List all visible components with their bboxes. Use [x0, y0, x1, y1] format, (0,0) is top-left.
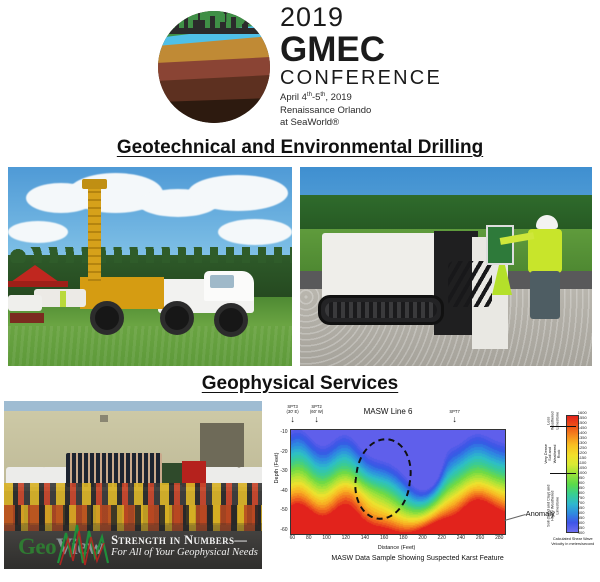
geoview-logo: GeoView	[18, 535, 103, 558]
logo-acronym: GMEC	[280, 32, 442, 67]
colorbar-unit-label: Calculated Shear Wave Velocity in meters…	[544, 537, 600, 546]
logo-year: 2019	[280, 4, 442, 31]
logo-dates: April 4th-5th, 2019	[280, 92, 442, 104]
drilling-section-heading: Geotechnical and Environmental Drilling	[0, 137, 600, 159]
colorbar-zone-very-dense-soil: Very Dense Soil and Weathered Rock	[544, 435, 562, 473]
layered-earth-skyline-icon	[158, 11, 270, 123]
masw-colorbar: Less Weathered Limestone Very Dense Soil…	[544, 401, 596, 573]
masw-chart-title: MASW Line 6	[364, 407, 413, 416]
track-mounted-drill-rig-operator-photo	[300, 167, 592, 366]
geoview-tagline: Strength in Numbers— For All of Your Geo…	[111, 533, 258, 559]
masw-y-axis-label: Depth (Feet)	[274, 443, 280, 493]
masw-x-axis-label: Distance (Feet)	[290, 545, 504, 551]
conference-logo-band: 2019 GMEC CONFERENCE April 4th-5th, 2019…	[0, 0, 600, 133]
geoview-logo-geo: Geo	[18, 534, 56, 559]
geophysical-section-heading: Geophysical Services	[0, 373, 600, 395]
colorbar-zone-soil-highly-weathered: Soil (Sand and Clay) and Highly Weathere…	[546, 483, 559, 529]
geoview-banner: GeoView Strength in Numbers— For All of …	[4, 523, 262, 569]
logo-conference-word: CONFERENCE	[280, 68, 442, 88]
conference-logo: 2019 GMEC CONFERENCE April 4th-5th, 2019…	[158, 4, 442, 129]
masw-velocity-heatmap	[290, 429, 506, 535]
seismic-waveform-icon	[56, 523, 110, 567]
anomaly-leader-line	[504, 514, 525, 521]
geoview-tagline-secondary: For All of Your Geophysical Needs	[111, 547, 258, 559]
masw-chart-caption: MASW Data Sample Showing Suspected Karst…	[268, 555, 568, 562]
logo-subtext: April 4th-5th, 2019 Renaissance Orlando …	[280, 92, 442, 129]
colorbar-ticks: 1600 1550 1500 1450 1400 1350 1300 1250 …	[578, 411, 600, 535]
drilling-photo-row	[0, 167, 600, 366]
logo-venue-line1: Renaissance Orlando	[280, 105, 442, 117]
masw-x-axis-ticks: 60 80 100 120 140 160 180 200 220 240 26…	[290, 535, 504, 541]
geoview-tagline-primary: Strength in Numbers—	[111, 533, 258, 547]
geoview-team-and-equipment-photo: GeoView Strength in Numbers— For All of …	[4, 401, 262, 569]
down-arrow-icon: ↓	[300, 416, 334, 422]
logo-venue-line2: at SeaWorld®	[280, 117, 442, 129]
city-skyline-icon	[158, 11, 270, 34]
down-arrow-icon: ↓	[438, 416, 472, 422]
conference-logo-text: 2019 GMEC CONFERENCE April 4th-5th, 2019…	[280, 4, 442, 129]
geophysical-content-row: GeoView Strength in Numbers— For All of …	[0, 401, 600, 573]
truck-mounted-drill-rig-photo	[8, 167, 292, 366]
masw-chart: MASW Line 6 SPT3 (30' E) ↓ SPT2 (60' W) …	[268, 401, 538, 573]
annotation-spt7: SPT7 ↓	[438, 410, 472, 422]
annotation-spt2: SPT2 (60' W) ↓	[300, 405, 334, 422]
